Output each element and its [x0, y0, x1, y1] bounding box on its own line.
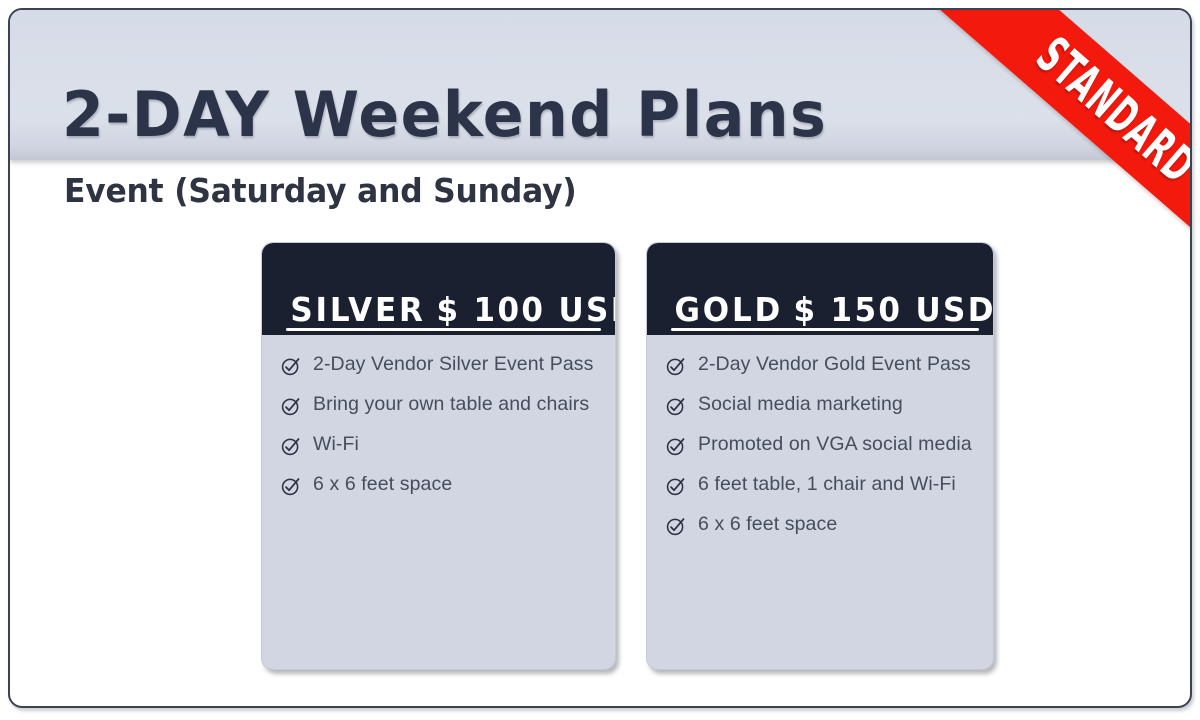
- feature-label: Wi-Fi: [313, 431, 359, 458]
- plan-tier-name-silver: SILVER: [290, 290, 425, 329]
- check-circle-icon: [280, 435, 302, 457]
- header-underline-silver: [286, 328, 601, 331]
- feature-label: 6 x 6 feet space: [313, 471, 452, 498]
- list-item: Promoted on VGA social media: [665, 431, 979, 463]
- check-circle-icon: [665, 435, 687, 457]
- feature-label: 2-Day Vendor Silver Event Pass: [313, 351, 593, 378]
- plan-card-header-silver: SILVER $ 100 USD: [262, 243, 615, 335]
- plan-cards: SILVER $ 100 USD 2-Day Vendor Silve: [10, 242, 1190, 682]
- feature-list-gold: 2-Day Vendor Gold Event Pass Social medi…: [647, 335, 993, 543]
- check-circle-icon: [665, 355, 687, 377]
- list-item: Wi-Fi: [280, 431, 601, 463]
- page-title: 2-DAY Weekend Plans: [62, 84, 827, 146]
- check-circle-icon: [280, 355, 302, 377]
- check-circle-icon: [280, 475, 302, 497]
- pricing-poster: 2-DAY Weekend Plans Event (Saturday and …: [0, 0, 1200, 720]
- list-item: 6 x 6 feet space: [665, 511, 979, 543]
- plan-tier-name-gold: GOLD: [674, 290, 783, 329]
- feature-label: 6 x 6 feet space: [698, 511, 837, 538]
- header-underline-gold: [671, 328, 979, 331]
- plan-card-header-gold: GOLD $ 150 USD: [647, 243, 993, 335]
- list-item: 2-Day Vendor Silver Event Pass: [280, 351, 601, 383]
- list-item: 6 x 6 feet space: [280, 471, 601, 503]
- list-item: 2-Day Vendor Gold Event Pass: [665, 351, 979, 383]
- plan-card-silver[interactable]: SILVER $ 100 USD 2-Day Vendor Silve: [261, 242, 616, 670]
- check-circle-icon: [665, 475, 687, 497]
- feature-list-silver: 2-Day Vendor Silver Event Pass Bring you…: [262, 335, 615, 503]
- plan-card-gold[interactable]: GOLD $ 150 USD 2-Day Vendor Gold Ev: [646, 242, 994, 670]
- plan-price-gold: $ 150 USD: [793, 290, 994, 329]
- list-item: Social media marketing: [665, 391, 979, 423]
- check-circle-icon: [280, 395, 302, 417]
- feature-label: Promoted on VGA social media: [698, 431, 972, 458]
- list-item: 6 feet table, 1 chair and Wi-Fi: [665, 471, 979, 503]
- check-circle-icon: [665, 515, 687, 537]
- feature-label: Social media marketing: [698, 391, 903, 418]
- page-subtitle: Event (Saturday and Sunday): [64, 173, 576, 209]
- feature-label: Bring your own table and chairs: [313, 391, 589, 418]
- plan-price-silver: $ 100 USD: [436, 290, 616, 329]
- check-circle-icon: [665, 395, 687, 417]
- feature-label: 6 feet table, 1 chair and Wi-Fi: [698, 471, 956, 498]
- poster-frame: 2-DAY Weekend Plans Event (Saturday and …: [8, 8, 1192, 708]
- list-item: Bring your own table and chairs: [280, 391, 601, 423]
- feature-label: 2-Day Vendor Gold Event Pass: [698, 351, 971, 378]
